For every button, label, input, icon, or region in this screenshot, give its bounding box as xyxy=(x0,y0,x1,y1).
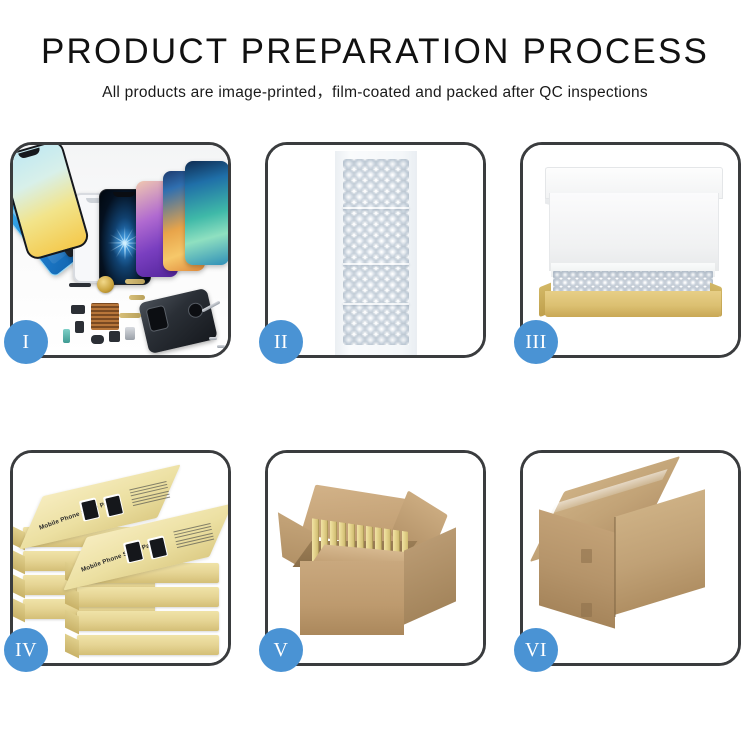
metal-bracket-part xyxy=(125,327,135,340)
step-panel-3: III xyxy=(520,142,741,358)
sim-tray-part xyxy=(63,329,70,343)
step-badge-3: III xyxy=(514,320,558,364)
step-panel-1: I xyxy=(10,142,231,358)
teal-gradient-screen xyxy=(185,161,228,265)
copper-contact-board xyxy=(91,303,119,330)
step-panel-6: VI xyxy=(520,450,741,666)
open-carton-scene xyxy=(268,453,483,663)
mailer-interior xyxy=(549,193,719,271)
connector-part-1 xyxy=(71,305,85,314)
box-stack: Mobile Phone Spare Parts Mobile Phone Sp… xyxy=(19,467,227,657)
wrap-seam-3 xyxy=(343,303,409,305)
carton-hand-hole-top xyxy=(581,549,592,563)
flex-cable-part-1 xyxy=(125,279,145,284)
bubble-wrapped-contents xyxy=(553,271,713,293)
flex-cable-part-3 xyxy=(119,313,141,318)
step-5-image xyxy=(268,453,483,663)
earpiece-part xyxy=(69,283,91,287)
step-panel-2: II xyxy=(265,142,486,358)
wrap-seam-1 xyxy=(343,207,409,209)
page-title: PRODUCT PREPARATION PROCESS xyxy=(0,34,750,71)
step-1-image xyxy=(13,145,228,355)
step-3-image xyxy=(523,145,738,355)
flex-cable-part-2 xyxy=(129,295,145,300)
mailer-front-panel xyxy=(545,291,721,317)
step-6-image xyxy=(523,453,738,663)
bubble-wrap-texture xyxy=(343,159,409,345)
step-panel-5: V xyxy=(265,450,486,666)
screw-part-2 xyxy=(217,345,225,348)
assembled-phone xyxy=(13,145,91,262)
step-badge-6: VI xyxy=(514,628,558,672)
phones-and-parts-scene xyxy=(13,145,228,355)
page-subtitle: All products are image-printed，film-coat… xyxy=(0,80,750,102)
step-2-image xyxy=(268,145,483,355)
open-mailer-scene xyxy=(523,145,738,355)
step-badge-2: II xyxy=(259,320,303,364)
camera-module-part xyxy=(109,331,120,342)
carton-hand-hole-bottom xyxy=(581,603,592,617)
stacked-boxes-scene: Mobile Phone Spare Parts Mobile Phone Sp… xyxy=(13,453,228,663)
header: PRODUCT PREPARATION PROCESS All products… xyxy=(0,34,750,102)
step-badge-5: V xyxy=(259,628,303,672)
step-badge-4: IV xyxy=(4,628,48,672)
step-4-image: Mobile Phone Spare Parts Mobile Phone Sp… xyxy=(13,453,228,663)
bubble-wrap-scene xyxy=(268,145,483,355)
carton-corner-seam xyxy=(614,517,616,617)
connector-part-2 xyxy=(75,321,84,333)
speaker-coil-part xyxy=(97,276,114,293)
screw-part-1 xyxy=(209,337,217,340)
product-preparation-infographic: PRODUCT PREPARATION PROCESS All products… xyxy=(0,0,750,750)
carton-front-face xyxy=(300,561,404,635)
step-panel-4: Mobile Phone Spare Parts Mobile Phone Sp… xyxy=(10,450,231,666)
phone-back-housing xyxy=(138,288,218,354)
process-steps-grid: I II xyxy=(10,142,740,666)
sealed-carton-scene xyxy=(523,453,738,663)
wrap-seam-2 xyxy=(343,263,409,265)
vibration-motor-part xyxy=(91,335,104,344)
step-badge-1: I xyxy=(4,320,48,364)
